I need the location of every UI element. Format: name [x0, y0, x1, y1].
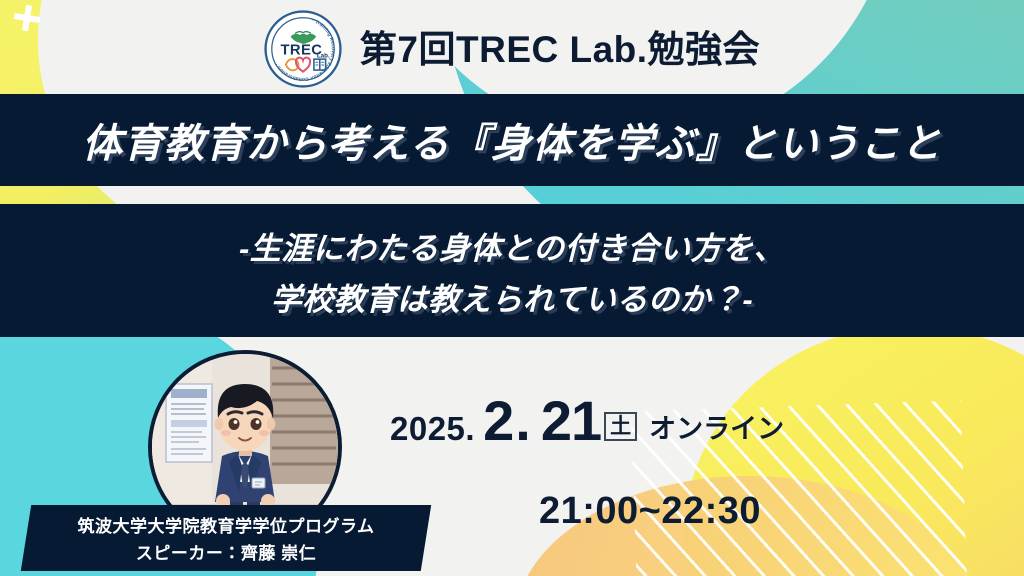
subtitle-band-content: -生涯にわたる身体との付き合い方を、 学校教育は教えられているのか？-: [0, 204, 1024, 337]
event-year: 2025.: [390, 410, 475, 448]
event-day-of-week: 土: [604, 412, 637, 441]
trec-lab-logo: · Training Recovery Education Collaborat…: [264, 10, 342, 88]
page-title: 第7回TREC Lab.勉強会: [360, 31, 760, 68]
event-date: 2025. 2 . 21 土 オンライン: [390, 388, 910, 452]
subtitle-line-2: 学校教育は教えられているのか？-: [271, 274, 753, 319]
headline-text: 体育教育から考える『身体を学ぶ』ということ: [82, 111, 942, 169]
speaker-name: スピーカー：齊藤 崇仁: [136, 539, 316, 564]
poster-header: · Training Recovery Education Collaborat…: [0, 6, 1024, 92]
event-mode: オンライン: [649, 407, 784, 446]
event-month: 2: [483, 388, 513, 453]
event-time: 21:00~22:30: [390, 490, 910, 533]
subtitle-line-1: -生涯にわたる身体との付き合い方を、: [239, 223, 785, 268]
poster-canvas: · Training Recovery Education Collaborat…: [0, 0, 1024, 576]
speaker-organization: 筑波大学大学院教育学学位プログラム: [78, 512, 375, 537]
trec-lab-logo-icon: · Training Recovery Education Collaborat…: [264, 10, 342, 88]
event-day: 21: [541, 388, 601, 453]
speaker-band-content: 筑波大学大学院教育学学位プログラム スピーカー：齊藤 崇仁: [26, 505, 426, 571]
date-separator: .: [515, 388, 531, 453]
document-poster-icon: [166, 384, 212, 462]
headline-band-content: 体育教育から考える『身体を学ぶ』ということ: [0, 94, 1024, 186]
